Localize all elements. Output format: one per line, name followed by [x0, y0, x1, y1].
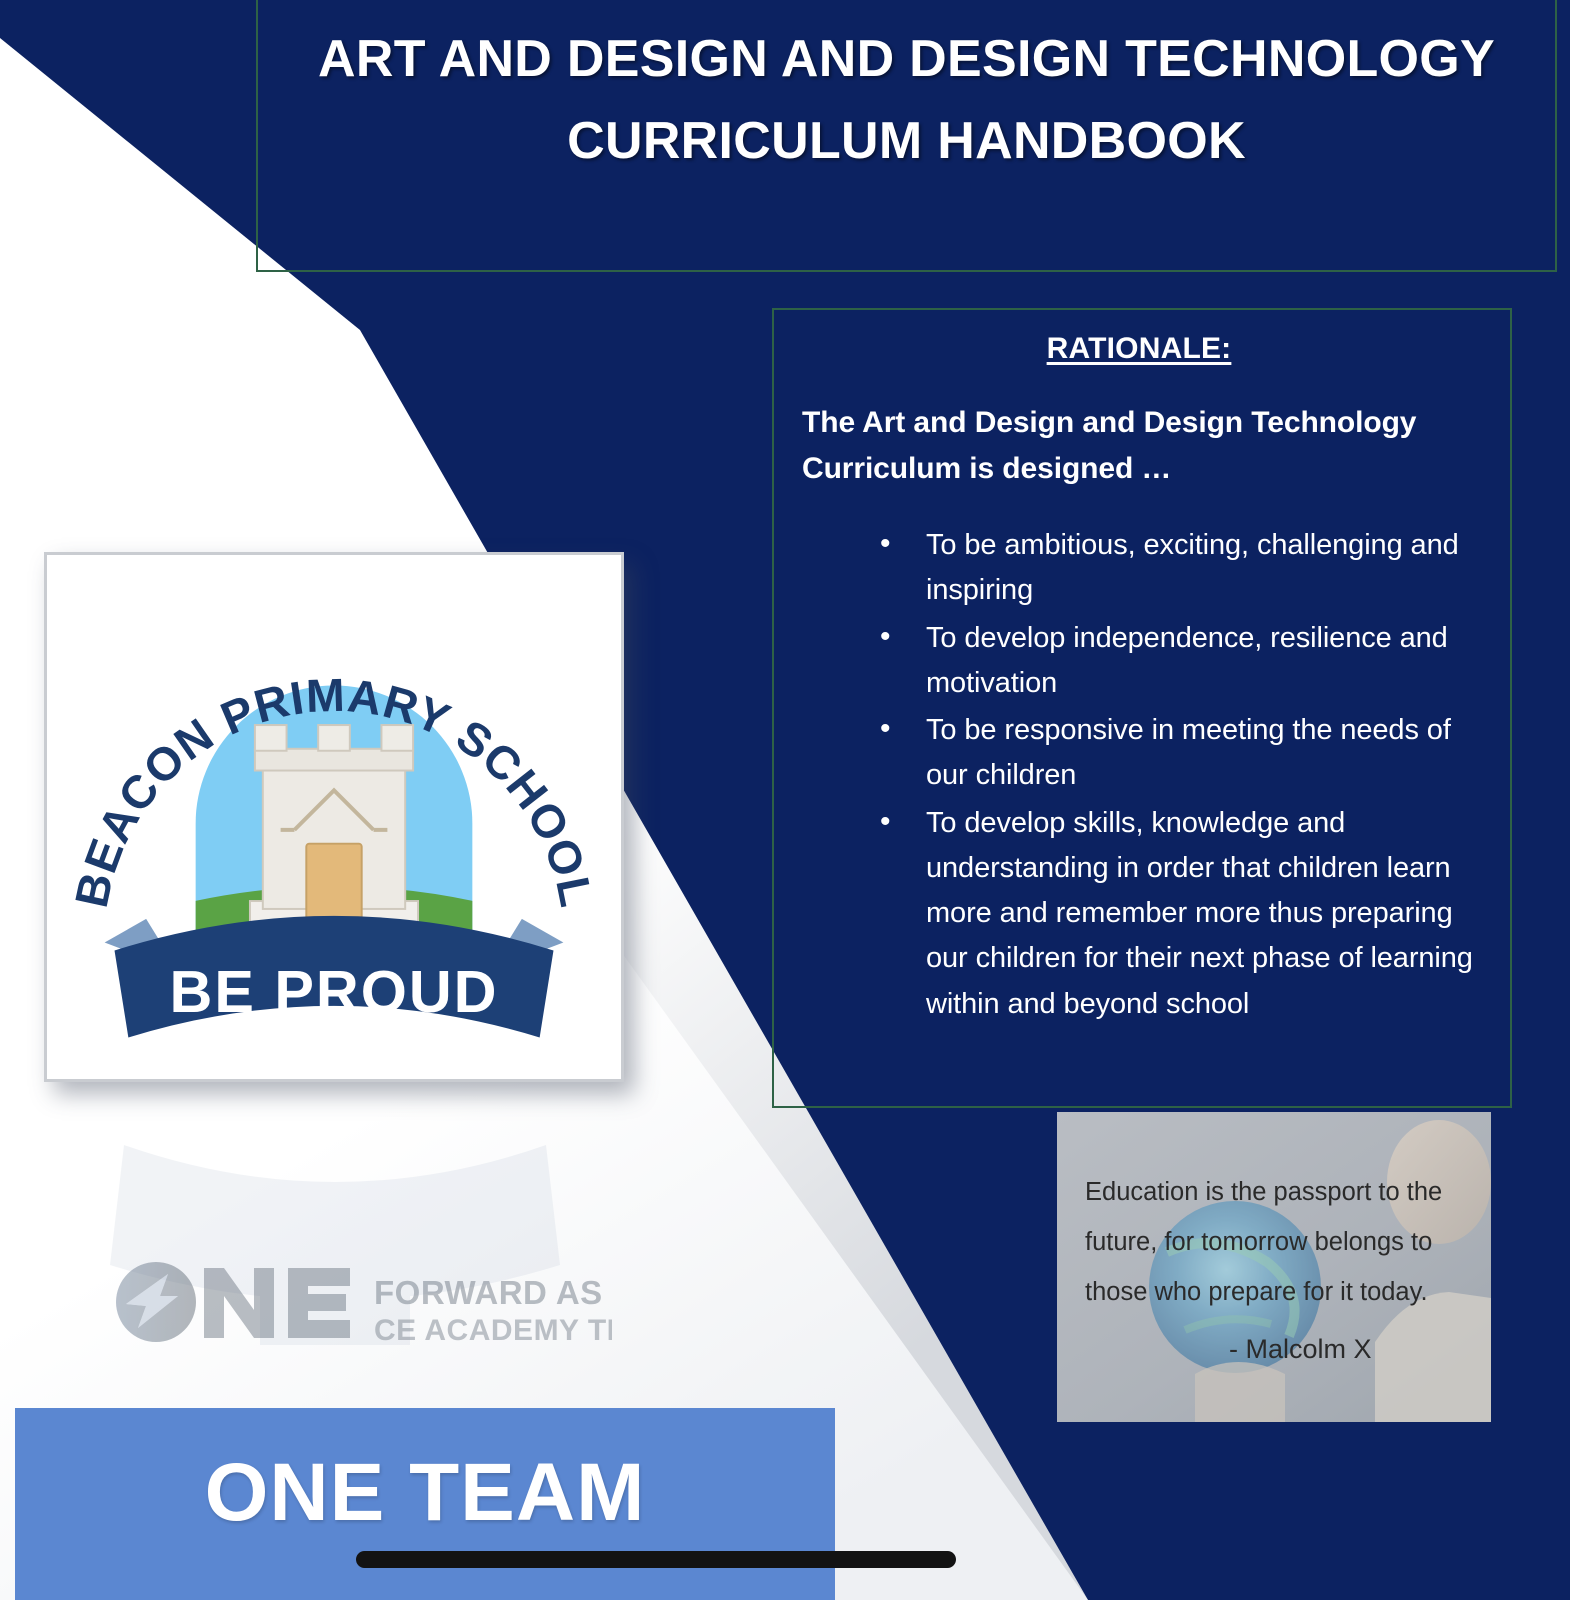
rationale-intro-text: The Art and Design and Design Technology… [802, 400, 1476, 491]
scroll-indicator-bar[interactable] [356, 1551, 956, 1568]
trust-line-2: CE ACADEMY TRUST [374, 1314, 612, 1347]
quote-card-graphic: Education is the passport to the future,… [1057, 1112, 1491, 1422]
rationale-box: RATIONALE: The Art and Design and Design… [772, 308, 1512, 1108]
quote-image-card: Education is the passport to the future,… [1057, 1112, 1491, 1422]
one-team-banner: ONE TEAM [15, 1408, 835, 1600]
list-item: To develop skills, knowledge and underst… [880, 801, 1476, 1027]
list-item: To be responsive in meeting the needs of… [880, 708, 1476, 798]
school-logo-plaque: BEACON PRIMARY SCHOOL BE PROUD [44, 552, 624, 1082]
handbook-title-box: ART AND DESIGN AND DESIGN TECHNOLOGY CUR… [256, 0, 1557, 272]
slide-canvas: ART AND DESIGN AND DESIGN TECHNOLOGY CUR… [0, 0, 1570, 1600]
quote-line-2: future, for tomorrow belongs to [1085, 1228, 1432, 1256]
rationale-heading: RATIONALE: [802, 332, 1476, 366]
trust-line-1: FORWARD AS ONE [374, 1274, 612, 1311]
quote-line-3: those who prepare for it today. [1085, 1278, 1428, 1306]
beacon-primary-school-logo: BEACON PRIMARY SCHOOL BE PROUD [47, 555, 621, 1079]
quote-line-1: Education is the passport to the [1085, 1178, 1442, 1206]
page-title: ART AND DESIGN AND DESIGN TECHNOLOGY CUR… [287, 18, 1527, 182]
quote-attribution: - Malcolm X [1229, 1334, 1372, 1364]
one-team-label: ONE TEAM [205, 1446, 646, 1540]
forward-as-one-trust-logo: FORWARD AS ONE CE ACADEMY TRUST [112, 1252, 612, 1352]
logo-motto: BE PROUD [170, 958, 499, 1025]
castle-tower-icon [250, 725, 418, 943]
rationale-bullet-list: To be ambitious, exciting, challenging a… [802, 523, 1476, 1027]
one-arrow-icon [116, 1262, 196, 1342]
list-item: To be ambitious, exciting, challenging a… [880, 523, 1476, 613]
list-item: To develop independence, resilience and … [880, 616, 1476, 706]
